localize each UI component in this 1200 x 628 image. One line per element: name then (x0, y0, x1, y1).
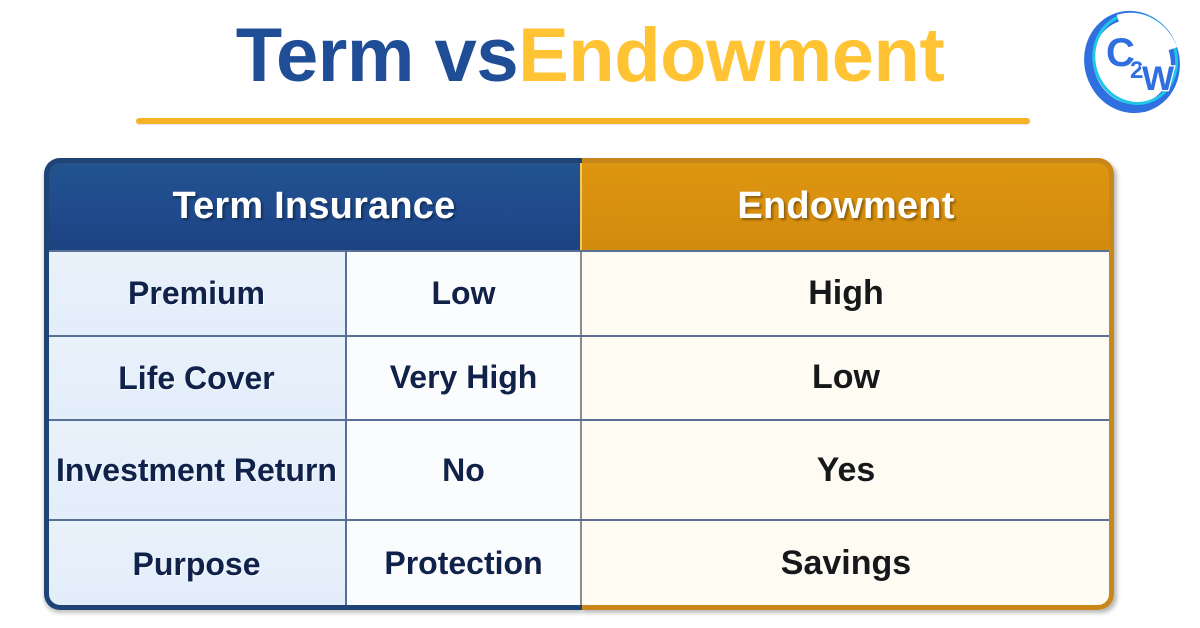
row-term-value-investment-return: No (345, 421, 580, 519)
logo-letter-w: W (1142, 60, 1175, 98)
table-header-row: Term Insurance Endowment (48, 162, 1110, 250)
table-header-endowment: Endowment (580, 162, 1110, 250)
row-label-life-cover: Life Cover (48, 337, 345, 420)
row-term-value-premium: Low (345, 252, 580, 335)
row-label-purpose: Purpose (48, 521, 345, 606)
row-term-value-life-cover: Very High (345, 337, 580, 420)
table-header-term-insurance: Term Insurance (48, 162, 580, 250)
table-row: Purpose Protection Savings (48, 519, 1110, 606)
row-endowment-value-life-cover: Low (580, 337, 1110, 420)
table-row: Investment Return No Yes (48, 419, 1110, 519)
c2w-logo: C 2 W (1078, 8, 1186, 116)
row-endowment-value-purpose: Savings (580, 521, 1110, 606)
row-term-value-purpose: Protection (345, 521, 580, 606)
title-underline-rule (136, 118, 1030, 124)
table-grid: Term Insurance Endowment Premium Low Hig… (48, 162, 1110, 606)
comparison-table: Term Insurance Endowment Premium Low Hig… (44, 158, 1114, 610)
row-endowment-value-premium: High (580, 252, 1110, 335)
row-label-premium: Premium (48, 252, 345, 335)
title-area: Term vsEndowment C 2 W (0, 0, 1200, 140)
row-label-investment-return: Investment Return (48, 421, 345, 519)
page-title: Term vsEndowment (140, 8, 1040, 104)
row-endowment-value-investment-return: Yes (580, 421, 1110, 519)
page-title-term-part: Term vs (236, 13, 518, 98)
table-row: Life Cover Very High Low (48, 335, 1110, 420)
page-title-endowment-part: Endowment (518, 13, 944, 98)
table-row: Premium Low High (48, 250, 1110, 335)
